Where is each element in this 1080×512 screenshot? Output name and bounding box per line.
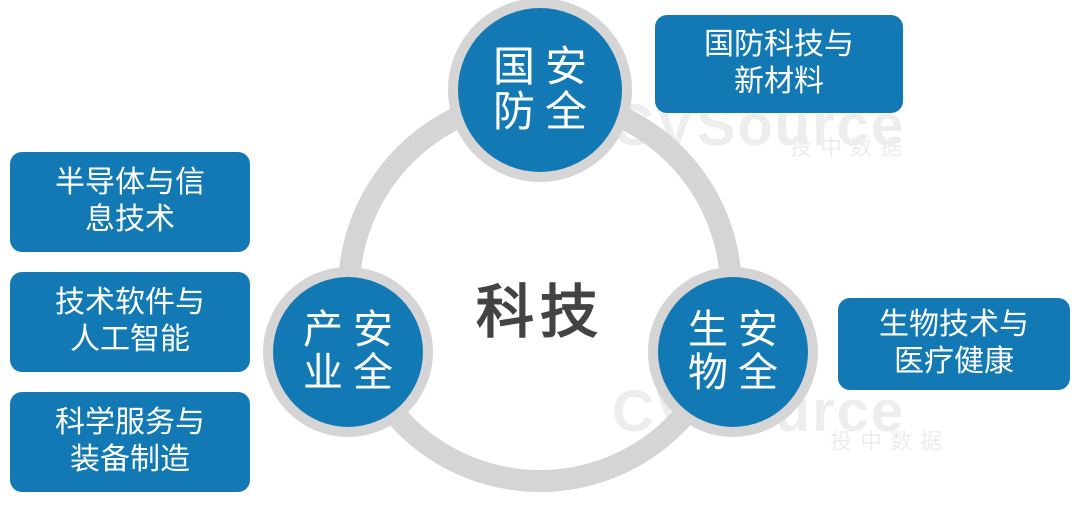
callout-line: 半导体与信 (55, 165, 205, 202)
diagram-canvas: CVSource 投中数据 CVSource 投中数据 科技 国 安 防 全 产… (0, 0, 1080, 512)
node-circle-defense-security (458, 8, 622, 172)
callout-line: 装备制造 (70, 442, 190, 479)
callout-line: 新材料 (734, 64, 824, 101)
node-circle-bio-security (658, 277, 808, 427)
node-circle-industry-security (273, 277, 423, 427)
callout-line: 技术软件与 (55, 285, 205, 322)
callout-line: 息技术 (85, 202, 175, 239)
callout-bio-tech-health: 生物技术与 医疗健康 (838, 298, 1070, 390)
center-title: 科技 (476, 265, 604, 349)
callout-semiconductor-it: 半导体与信 息技术 (10, 152, 250, 252)
callout-science-services-equipment: 科学服务与 装备制造 (10, 392, 250, 492)
callout-line: 人工智能 (70, 322, 190, 359)
callout-line: 国防科技与 (704, 27, 854, 64)
callout-line: 生物技术与 (879, 307, 1029, 344)
callout-line: 科学服务与 (55, 405, 205, 442)
callout-defense-tech-materials: 国防科技与 新材料 (655, 15, 903, 113)
callout-software-ai: 技术软件与 人工智能 (10, 272, 250, 372)
callout-line: 医疗健康 (894, 344, 1014, 381)
